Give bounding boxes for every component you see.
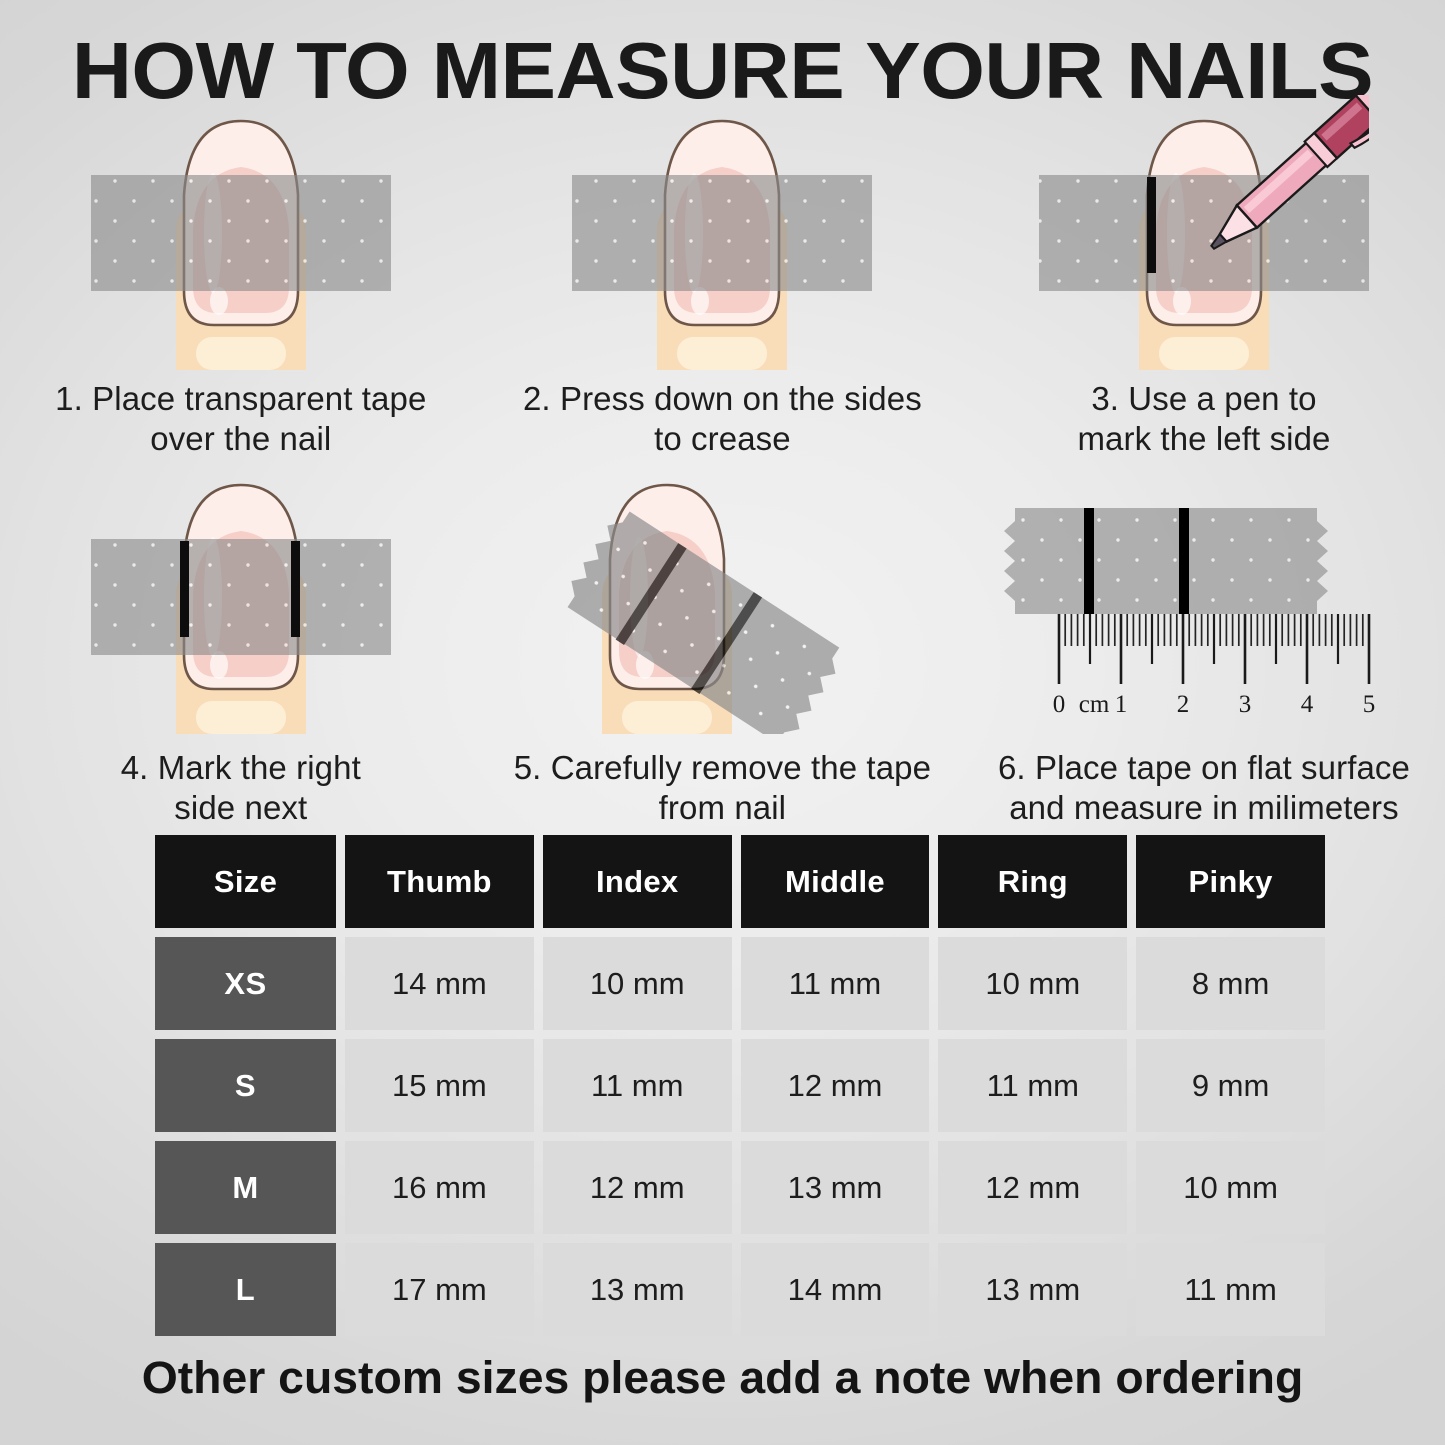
- ruler-tick-3: 3: [1239, 691, 1252, 718]
- ruler-tick-4: 4: [1301, 691, 1314, 718]
- nail-with-two-marks-icon: [91, 479, 391, 734]
- nail-tape-peeled-icon: [542, 479, 902, 734]
- ruler-tick-1: 1: [1115, 691, 1128, 718]
- footer-note: Other custom sizes please add a note whe…: [0, 1352, 1445, 1404]
- cell-thumb: 14 mm: [345, 937, 534, 1030]
- step-5-illustration: [482, 479, 964, 734]
- cell-middle: 11 mm: [741, 937, 930, 1030]
- step-1-illustration: [0, 115, 482, 365]
- step-4-caption-line1: 4. Mark the right: [121, 748, 361, 788]
- step-3-caption-line1: 3. Use a pen to: [1077, 379, 1330, 419]
- cell-middle: 13 mm: [741, 1141, 930, 1234]
- step-2-caption-line1: 2. Press down on the sides: [523, 379, 922, 419]
- step-2-caption-line2: to crease: [523, 419, 922, 459]
- ruler-tick-2: 2: [1177, 691, 1190, 718]
- step-3-caption: 3. Use a pen to mark the left side: [1077, 379, 1330, 459]
- steps-row-2: 4. Mark the right side next: [0, 479, 1445, 828]
- cell-index: 11 mm: [543, 1039, 732, 1132]
- cell-index: 12 mm: [543, 1141, 732, 1234]
- left-mark: [180, 541, 189, 637]
- table-header-index: Index: [543, 835, 732, 928]
- table-header-ring: Ring: [938, 835, 1127, 928]
- steps-section: 1. Place transparent tape over the nail: [0, 115, 1445, 828]
- step-4-caption-line2: side next: [121, 788, 361, 828]
- step-1-caption-line2: over the nail: [55, 419, 426, 459]
- step-6-caption-line1: 6. Place tape on flat surface: [998, 748, 1410, 788]
- cell-middle: 14 mm: [741, 1243, 930, 1336]
- page-title: HOW TO MEASURE YOUR NAILS: [0, 25, 1445, 117]
- ruler-tick-5: 5: [1363, 691, 1376, 718]
- step-1-caption: 1. Place transparent tape over the nail: [55, 379, 426, 459]
- cell-pinky: 8 mm: [1136, 937, 1325, 1030]
- size-table: Size Thumb Index Middle Ring Pinky XS 14…: [155, 835, 1325, 1345]
- cell-pinky: 11 mm: [1136, 1243, 1325, 1336]
- step-4-caption: 4. Mark the right side next: [121, 748, 361, 828]
- cell-ring: 11 mm: [938, 1039, 1127, 1132]
- step-2-illustration: [482, 115, 964, 365]
- table-row: S 15 mm 11 mm 12 mm 11 mm 9 mm: [155, 1039, 1325, 1132]
- table-header-middle: Middle: [741, 835, 930, 928]
- step-2-caption: 2. Press down on the sides to crease: [523, 379, 922, 459]
- step-1: 1. Place transparent tape over the nail: [0, 115, 482, 459]
- cell-index: 10 mm: [543, 937, 732, 1030]
- step-4: 4. Mark the right side next: [0, 479, 482, 828]
- infographic-page: HOW TO MEASURE YOUR NAILS: [0, 0, 1445, 1445]
- nail-with-pen-icon: [1039, 115, 1369, 370]
- tape-on-ruler-icon: 0 cm 1 2 3 4 5: [999, 494, 1409, 724]
- cell-ring: 13 mm: [938, 1243, 1127, 1336]
- step-3: 3. Use a pen to mark the left side: [963, 115, 1445, 459]
- cell-thumb: 17 mm: [345, 1243, 534, 1336]
- cell-pinky: 9 mm: [1136, 1039, 1325, 1132]
- nail-with-tape-icon: [91, 115, 391, 370]
- cell-ring: 12 mm: [938, 1141, 1127, 1234]
- mark-right: [1179, 508, 1189, 614]
- step-6-illustration: 0 cm 1 2 3 4 5: [963, 479, 1445, 734]
- step-6-caption: 6. Place tape on flat surface and measur…: [998, 748, 1410, 828]
- table-row: M 16 mm 12 mm 13 mm 12 mm 10 mm: [155, 1141, 1325, 1234]
- step-5: 5. Carefully remove the tape from nail: [482, 479, 964, 828]
- table-header-thumb: Thumb: [345, 835, 534, 928]
- cell-thumb: 16 mm: [345, 1141, 534, 1234]
- step-3-illustration: [963, 115, 1445, 365]
- ruler-tick-0: 0: [1053, 691, 1066, 718]
- row-size-label: XS: [155, 937, 336, 1030]
- table-header-size: Size: [155, 835, 336, 928]
- row-size-label: S: [155, 1039, 336, 1132]
- table-row: L 17 mm 13 mm 14 mm 13 mm 11 mm: [155, 1243, 1325, 1336]
- table-row: XS 14 mm 10 mm 11 mm 10 mm 8 mm: [155, 937, 1325, 1030]
- step-4-illustration: [0, 479, 482, 734]
- row-size-label: L: [155, 1243, 336, 1336]
- step-2: 2. Press down on the sides to crease: [482, 115, 964, 459]
- flat-tape: [1004, 508, 1328, 614]
- step-6-caption-line2: and measure in milimeters: [998, 788, 1410, 828]
- nail-with-tape-creased-icon: [572, 115, 872, 370]
- step-5-caption-line2: from nail: [514, 788, 931, 828]
- table-header-pinky: Pinky: [1136, 835, 1325, 928]
- right-mark: [291, 541, 300, 637]
- step-3-caption-line2: mark the left side: [1077, 419, 1330, 459]
- cell-thumb: 15 mm: [345, 1039, 534, 1132]
- ruler-unit-label: cm: [1079, 691, 1110, 718]
- step-6: 0 cm 1 2 3 4 5 6. Place tape on flat sur…: [963, 479, 1445, 828]
- steps-row-1: 1. Place transparent tape over the nail: [0, 115, 1445, 459]
- step-5-caption-line1: 5. Carefully remove the tape: [514, 748, 931, 788]
- mark-left: [1084, 508, 1094, 614]
- row-size-label: M: [155, 1141, 336, 1234]
- cell-ring: 10 mm: [938, 937, 1127, 1030]
- step-1-caption-line1: 1. Place transparent tape: [55, 379, 426, 419]
- cell-pinky: 10 mm: [1136, 1141, 1325, 1234]
- step-5-caption: 5. Carefully remove the tape from nail: [514, 748, 931, 828]
- cell-index: 13 mm: [543, 1243, 732, 1336]
- cell-middle: 12 mm: [741, 1039, 930, 1132]
- table-header-row: Size Thumb Index Middle Ring Pinky: [155, 835, 1325, 928]
- ruler: [1059, 614, 1369, 684]
